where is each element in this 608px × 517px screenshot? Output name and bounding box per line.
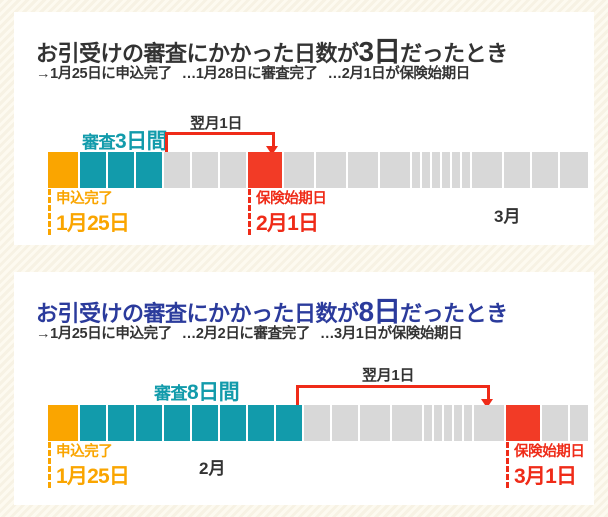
day-cell-compressed (434, 405, 442, 441)
day-cell-compressed (464, 405, 472, 441)
next-month-bracket (296, 385, 490, 407)
review-span-emphasis: 3日間 (115, 130, 167, 153)
day-cell-review (80, 152, 106, 188)
timeline-track-3-days (48, 152, 588, 188)
day-cell-wait (192, 152, 218, 188)
day-cell-compressed (454, 405, 462, 441)
day-cell-neutral (532, 152, 558, 188)
day-cell-review (164, 405, 190, 441)
marker-date: 1月25日 (56, 460, 129, 490)
day-cell-review (108, 405, 134, 441)
day-cell-wait (474, 405, 504, 441)
day-cell-compressed (412, 152, 420, 188)
review-span-prefix: 審査 (82, 133, 115, 152)
marker-title: 保険始期日 (514, 440, 585, 461)
marker-title: 保険始期日 (256, 187, 327, 208)
day-cell-neutral (560, 152, 588, 188)
day-cell-review (108, 152, 134, 188)
day-cell-review (192, 405, 218, 441)
day-cell-compressed (442, 152, 450, 188)
panel-subheading: →1月25日に申込完了…1月28日に審査完了…2月1日が保険始期日 (36, 62, 470, 83)
day-cell-neutral (504, 152, 530, 188)
review-span-label: 審査3日間 (82, 125, 167, 155)
day-cell-compressed (432, 152, 440, 188)
marker-date: 2月1日 (256, 207, 318, 237)
panel-subheading: →1月25日に申込完了…2月2日に審査完了…3月1日が保険始期日 (36, 322, 462, 343)
marker-dash-line (48, 189, 51, 235)
next-month-label: 翌月1日 (362, 364, 414, 385)
case-panel-3-days: お引受けの審査にかかった日数が3日だったとき →1月25日に申込完了…1月28日… (14, 12, 594, 245)
case-panel-8-days: お引受けの審査にかかった日数が8日だったとき →1月25日に申込完了…2月2日に… (14, 272, 594, 505)
marker-date: 3月1日 (514, 460, 576, 490)
subheading-step-1: →1月25日に申込完了 (36, 322, 172, 343)
day-cell-review (80, 405, 106, 441)
day-cell-wait (164, 152, 190, 188)
day-cell-wait (332, 405, 358, 441)
day-cell-compressed (462, 152, 470, 188)
day-cell-compressed (424, 405, 432, 441)
day-cell-review (136, 152, 162, 188)
day-cell-compressed (452, 152, 460, 188)
review-span-prefix: 審査 (154, 384, 187, 403)
day-cell-review (276, 405, 302, 441)
next-month-label: 翌月1日 (190, 112, 242, 133)
day-cell-neutral (348, 152, 378, 188)
marker-title: 申込完了 (56, 187, 112, 208)
day-cell-review (248, 405, 274, 441)
subheading-step-3: …2月1日が保険始期日 (328, 62, 470, 83)
day-cell-policy-start (248, 152, 282, 188)
month-caption: 2月 (199, 454, 225, 479)
day-cell-compressed (422, 152, 430, 188)
day-cell-compressed (444, 405, 452, 441)
day-cell-wait (360, 405, 390, 441)
day-cell-neutral (542, 405, 568, 441)
marker-dash-line (248, 189, 251, 235)
day-cell-neutral (570, 405, 588, 441)
subheading-step-3: …3月1日が保険始期日 (320, 322, 462, 343)
day-cell-review (136, 405, 162, 441)
day-cell-neutral (472, 152, 502, 188)
subheading-step-2: …1月28日に審査完了 (182, 62, 318, 83)
day-cell-applied (48, 152, 78, 188)
subheading-step-1: →1月25日に申込完了 (36, 62, 172, 83)
next-month-bracket (165, 132, 275, 154)
marker-dash-line (48, 442, 51, 488)
day-cell-neutral (284, 152, 314, 188)
marker-title: 申込完了 (56, 440, 112, 461)
day-cell-neutral (316, 152, 346, 188)
timeline-track-8-days (48, 405, 588, 441)
day-cell-review (220, 405, 246, 441)
day-cell-policy-start (506, 405, 540, 441)
review-span-emphasis: 8日間 (187, 381, 239, 404)
day-cell-neutral (380, 152, 410, 188)
marker-date: 1月25日 (56, 207, 129, 237)
day-cell-applied (48, 405, 78, 441)
review-span-label: 審査8日間 (154, 376, 239, 406)
day-cell-wait (392, 405, 422, 441)
month-caption: 3月 (494, 202, 520, 227)
day-cell-wait (304, 405, 330, 441)
marker-dash-line (506, 442, 509, 488)
subheading-step-2: …2月2日に審査完了 (182, 322, 310, 343)
diagram-root: お引受けの審査にかかった日数が3日だったとき →1月25日に申込完了…1月28日… (0, 0, 608, 517)
day-cell-wait (220, 152, 246, 188)
